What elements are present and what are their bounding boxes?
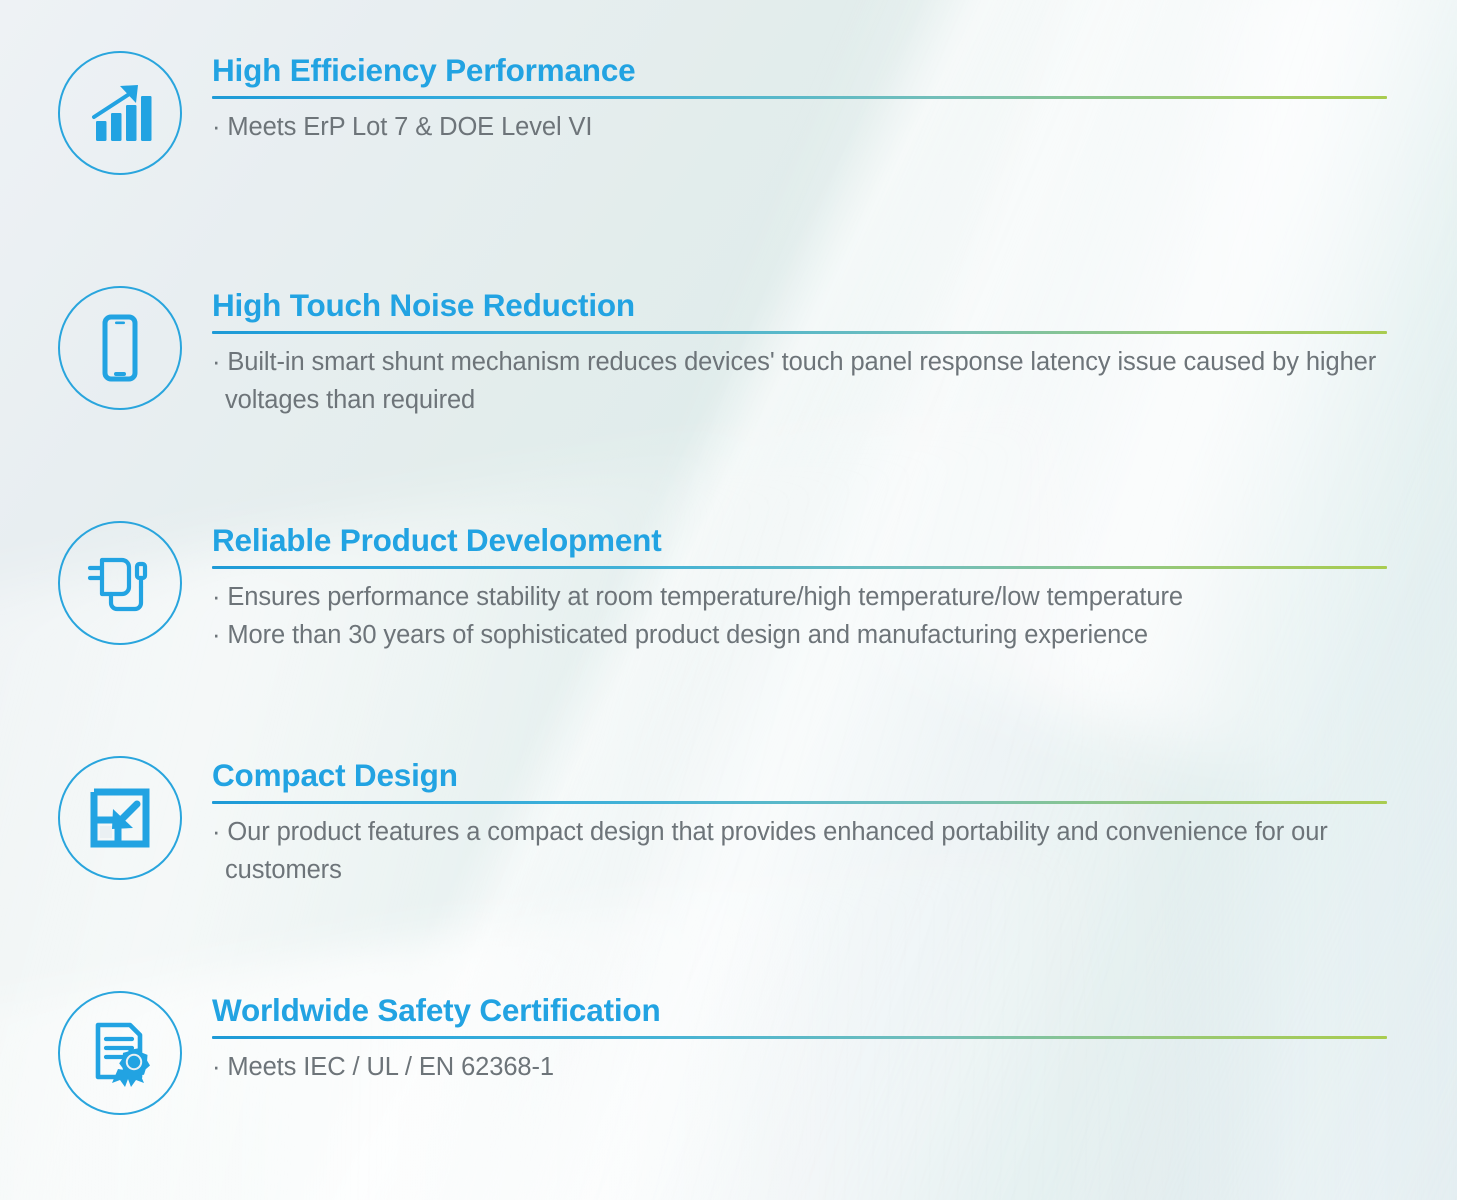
feature-title: High Efficiency Performance <box>212 53 1387 87</box>
feature-divider <box>212 331 1387 334</box>
feature-title: Compact Design <box>212 758 1387 792</box>
feature-list: High Efficiency Performance · Meets ErP … <box>0 0 1457 1200</box>
feature-bullet: · More than 30 years of sophisticated pr… <box>212 617 1387 654</box>
feature-bullet-list: · Built-in smart shunt mechanism reduces… <box>212 344 1387 419</box>
feature-highlights-page: High Efficiency Performance · Meets ErP … <box>0 0 1457 1200</box>
feature-body: Compact Design · Our product features a … <box>212 758 1387 889</box>
feature-bullet: · Built-in smart shunt mechanism reduces… <box>212 344 1387 419</box>
feature-divider <box>212 801 1387 804</box>
feature-bullet-list: · Ensures performance stability at room … <box>212 579 1387 654</box>
feature-title: Reliable Product Development <box>212 523 1387 557</box>
feature-title: Worldwide Safety Certification <box>212 993 1387 1027</box>
feature-body: Worldwide Safety Certification · Meets I… <box>212 993 1387 1087</box>
feature-divider <box>212 566 1387 569</box>
bar-chart-growth-icon <box>58 51 182 175</box>
feature-bullet-list: · Meets ErP Lot 7 & DOE Level VI <box>212 109 1387 146</box>
feature-bullet-list: · Meets IEC / UL / EN 62368-1 <box>212 1049 1387 1086</box>
compact-resize-icon <box>58 756 182 880</box>
feature-title: High Touch Noise Reduction <box>212 288 1387 322</box>
smartphone-icon <box>58 286 182 410</box>
feature-bullet: · Ensures performance stability at room … <box>212 579 1387 616</box>
feature-bullet: · Our product features a compact design … <box>212 814 1387 889</box>
certificate-award-icon <box>58 991 182 1115</box>
feature-bullet: · Meets IEC / UL / EN 62368-1 <box>212 1049 1387 1086</box>
feature-divider <box>212 96 1387 99</box>
feature-bullet-list: · Our product features a compact design … <box>212 814 1387 889</box>
feature-body: High Efficiency Performance · Meets ErP … <box>212 53 1387 147</box>
feature-bullet: · Meets ErP Lot 7 & DOE Level VI <box>212 109 1387 146</box>
feature-body: Reliable Product Development · Ensures p… <box>212 523 1387 654</box>
feature-divider <box>212 1036 1387 1039</box>
power-adapter-icon <box>58 521 182 645</box>
feature-body: High Touch Noise Reduction · Built-in sm… <box>212 288 1387 419</box>
